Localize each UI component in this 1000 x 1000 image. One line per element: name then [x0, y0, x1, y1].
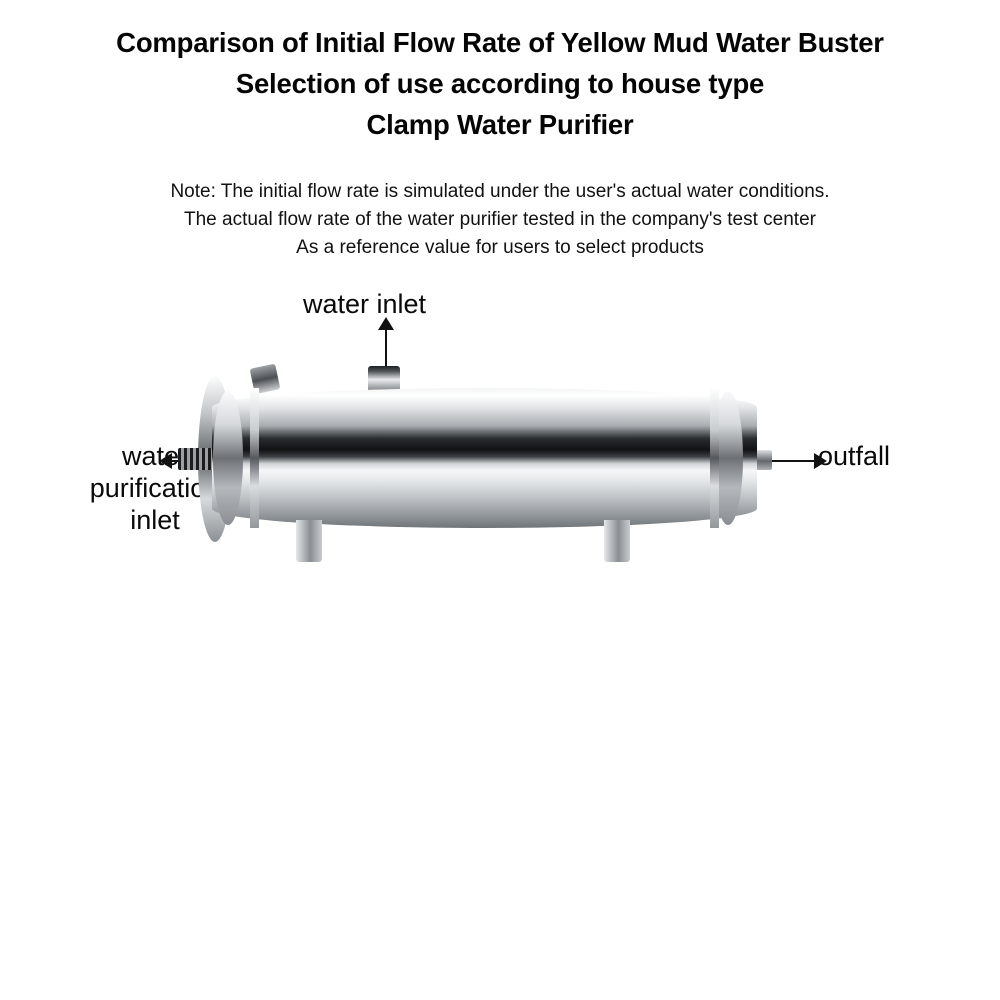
title-line-3: Clamp Water Purifier: [0, 104, 1000, 145]
tank-cap-left: [213, 391, 243, 525]
tank-ring-right: [710, 388, 719, 528]
note-line-3: As a reference value for users to select…: [0, 234, 1000, 262]
infographic-page: Comparison of Initial Flow Rate of Yello…: [0, 0, 1000, 1000]
hero-purifier-body: [212, 388, 757, 528]
mounting-clip-right: [604, 520, 630, 562]
label-outfall: outfall: [818, 440, 890, 472]
mounting-clip-left: [296, 520, 322, 562]
note-line-1: Note: The initial flow rate is simulated…: [0, 178, 1000, 206]
note-block: Note: The initial flow rate is simulated…: [0, 178, 1000, 262]
tank-ring-left: [250, 388, 259, 528]
page-title: Comparison of Initial Flow Rate of Yello…: [0, 22, 1000, 145]
purification-outlet-nozzle: [178, 448, 212, 470]
note-line-2: The actual flow rate of the water purifi…: [0, 206, 1000, 234]
hero-product-diagram: water inlet water purification inlet out…: [0, 278, 1000, 588]
arrow-right-icon: [766, 460, 816, 462]
tank-shell: [212, 388, 757, 528]
title-line-1: Comparison of Initial Flow Rate of Yello…: [0, 22, 1000, 63]
model-comparison-row: Flow rate 1 ton/hour 1000L For single fa…: [0, 596, 1000, 1000]
title-line-2: Selection of use according to house type: [0, 63, 1000, 104]
label-water-inlet: water inlet: [303, 288, 426, 320]
